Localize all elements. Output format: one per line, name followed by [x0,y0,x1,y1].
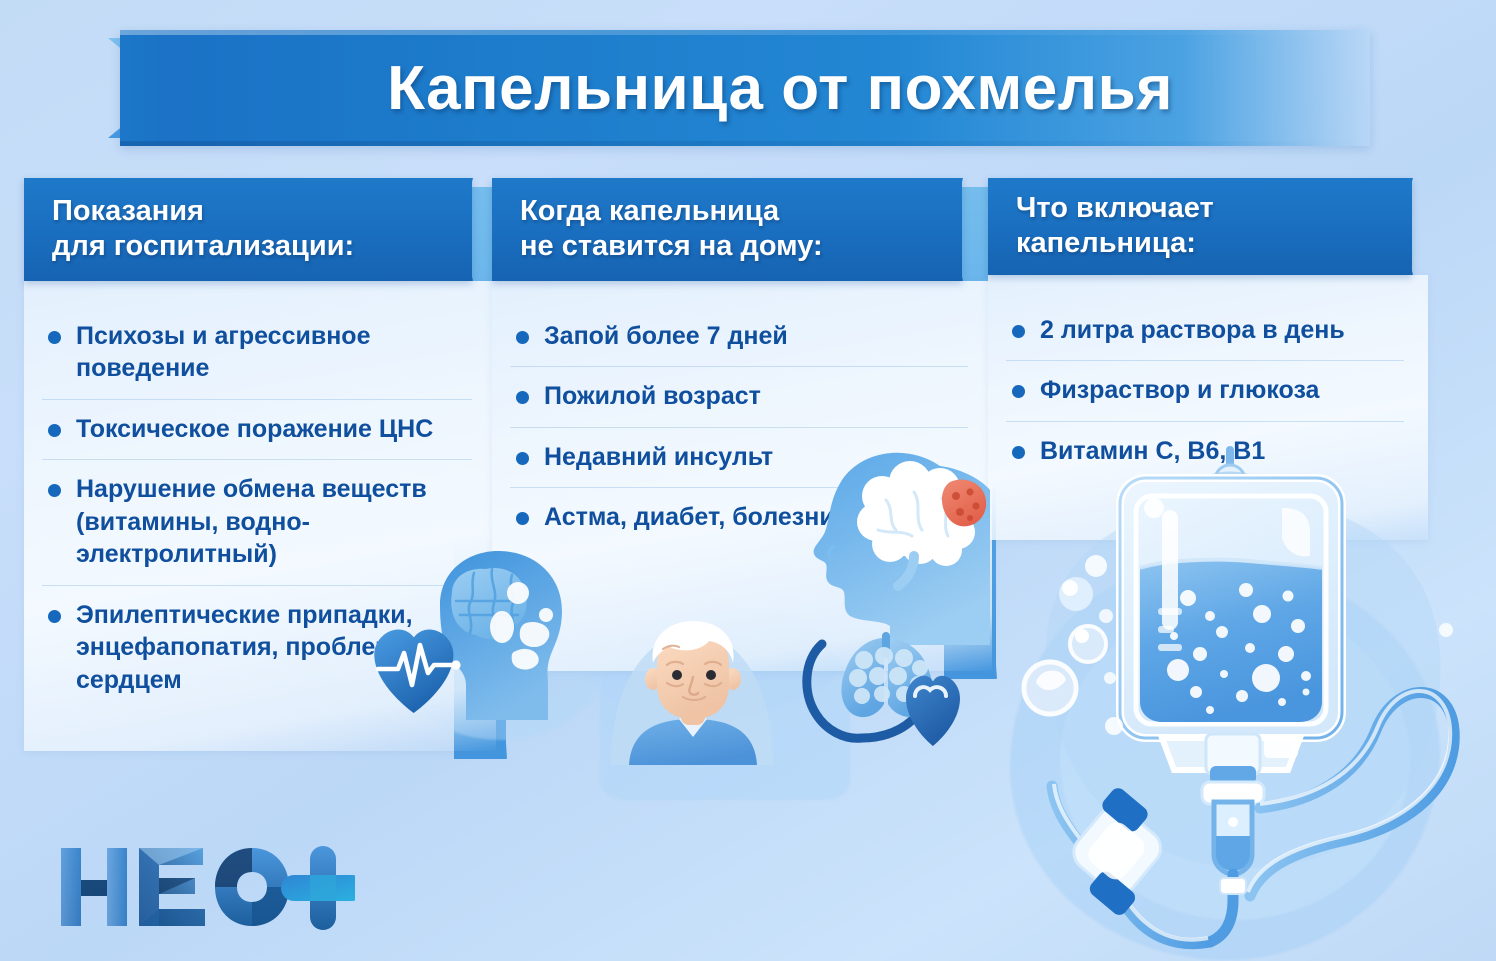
head-brain-heart-pulse-icon [370,545,590,720]
card-header-line1: Когда капельница [520,194,936,229]
logo-letter-n [61,848,127,926]
chevron-notch-icon [929,178,963,281]
title-banner: Капельница от похмелья [0,30,1496,146]
list-item: Физраствор и глюкоза [1006,361,1404,422]
elderly-person-avatar [605,615,780,765]
card-header-line2: для госпитализации: [52,229,446,264]
brand-logo-neo-plus [55,838,355,938]
chevron-notch-icon [1379,178,1413,275]
logo-plus-icon [281,846,355,930]
list-item: 2 литра раствора в день [1006,301,1404,362]
list-item: Токсическое поражение ЦНС [42,400,472,461]
logo-letter-o [215,848,289,926]
head-brain-stroke-icon [790,430,1005,645]
card-header-contents: Что включает капельница: [988,178,1412,275]
logo-letter-e [139,848,205,926]
lungs-heart-stethoscope-icon [800,630,980,760]
iv-drip-bag-illustration [1010,430,1490,950]
card-header-line2: не ставится на дому: [520,229,936,264]
ribbon-main: Капельница от похмелья [120,30,1370,146]
card-header-line1: Что включает капельница: [1016,191,1386,262]
card-header-line1: Показания [52,194,446,229]
list-item: Психозы и агрессивное поведение [42,307,472,400]
page-title: Капельница от похмелья [120,30,1370,146]
list-item: Пожилой возраст [510,367,968,428]
infographic-canvas: Капельница от похмелья Показания для гос… [0,0,1496,961]
chevron-notch-icon [439,178,473,281]
card-header-contraindications: Когда капельница не ставится на дому: [492,178,962,281]
list-item: Запой более 7 дней [510,307,968,368]
card-header-indications: Показания для госпитализации: [24,178,472,281]
